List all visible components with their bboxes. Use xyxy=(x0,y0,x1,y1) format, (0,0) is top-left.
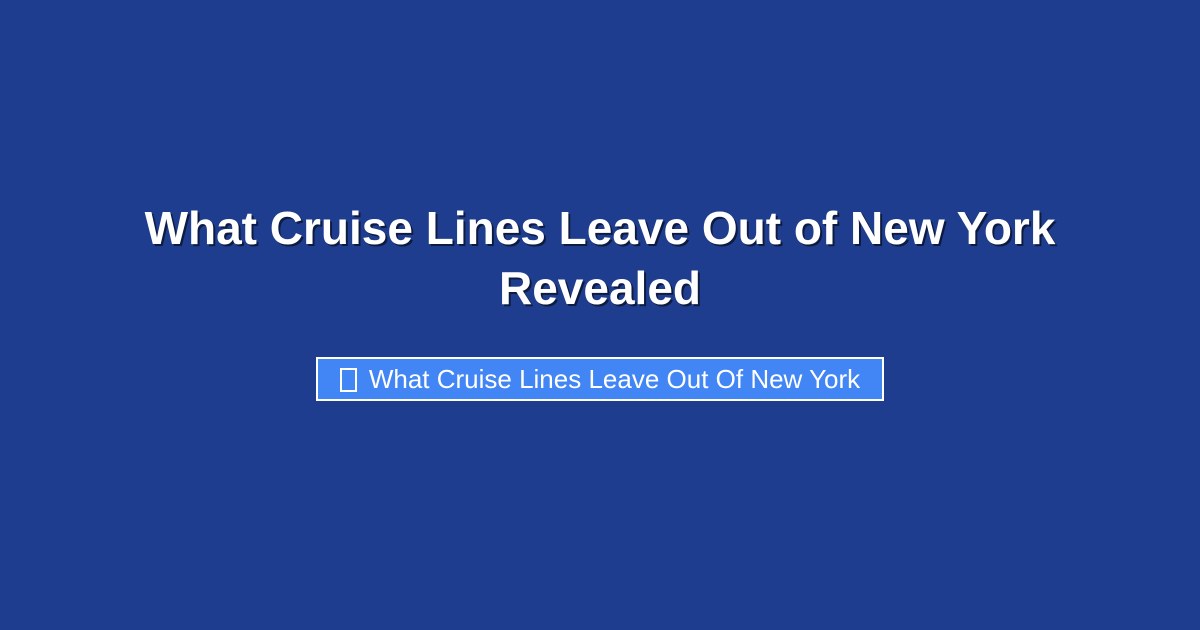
cta-container: What Cruise Lines Leave Out Of New York xyxy=(0,357,1200,401)
social-share-card: What Cruise Lines Leave Out of New York … xyxy=(0,0,1200,630)
cta-button[interactable]: What Cruise Lines Leave Out Of New York xyxy=(316,357,884,401)
page-title: What Cruise Lines Leave Out of New York … xyxy=(120,198,1080,318)
missing-glyph-tofu-icon xyxy=(340,368,357,392)
cta-button-label: What Cruise Lines Leave Out Of New York xyxy=(369,366,860,392)
